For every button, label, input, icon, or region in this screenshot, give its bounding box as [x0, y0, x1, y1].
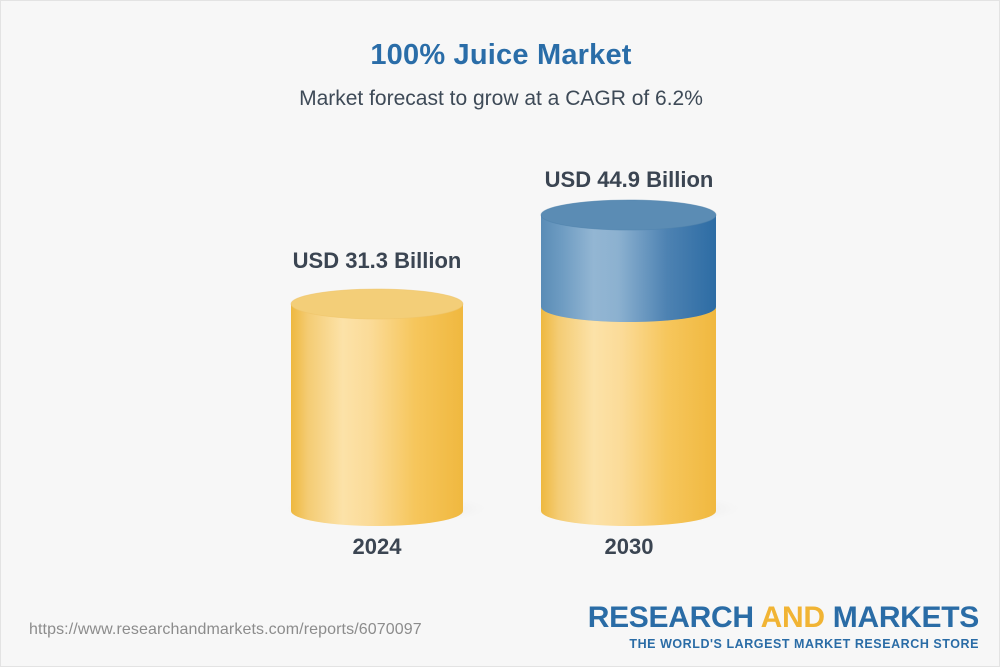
- logo-wordmark: RESEARCH AND MARKETS: [588, 603, 979, 633]
- logo-tagline: THE WORLD'S LARGEST MARKET RESEARCH STOR…: [588, 638, 979, 651]
- bar-2024[interactable]: [286, 289, 486, 526]
- bar-2030-base-segment: [541, 307, 716, 526]
- logo-word-and: AND: [761, 601, 833, 634]
- category-label-2030: 2030: [549, 534, 709, 560]
- chart-canvas: 100% Juice Market Market forecast to gro…: [0, 0, 1000, 667]
- bar-value-label-2024: USD 31.3 Billion: [277, 248, 477, 274]
- research-and-markets-logo[interactable]: RESEARCH AND MARKETS THE WORLD'S LARGEST…: [588, 603, 979, 651]
- bar-value-label-2030: USD 44.9 Billion: [529, 167, 729, 193]
- logo-word-markets: MARKETS: [833, 601, 979, 634]
- bar-2030-growth-segment: [541, 215, 716, 322]
- source-url[interactable]: https://www.researchandmarkets.com/repor…: [29, 621, 422, 639]
- bar-2030[interactable]: [536, 200, 740, 526]
- cylinder-bar-chart-svg: [1, 1, 1000, 601]
- category-label-2024: 2024: [297, 534, 457, 560]
- chart-plot-area: USD 31.3 Billion USD 44.9 Billion 2024 2…: [1, 1, 1000, 601]
- logo-word-research: RESEARCH: [588, 601, 761, 634]
- bar-2024-body: [291, 304, 463, 526]
